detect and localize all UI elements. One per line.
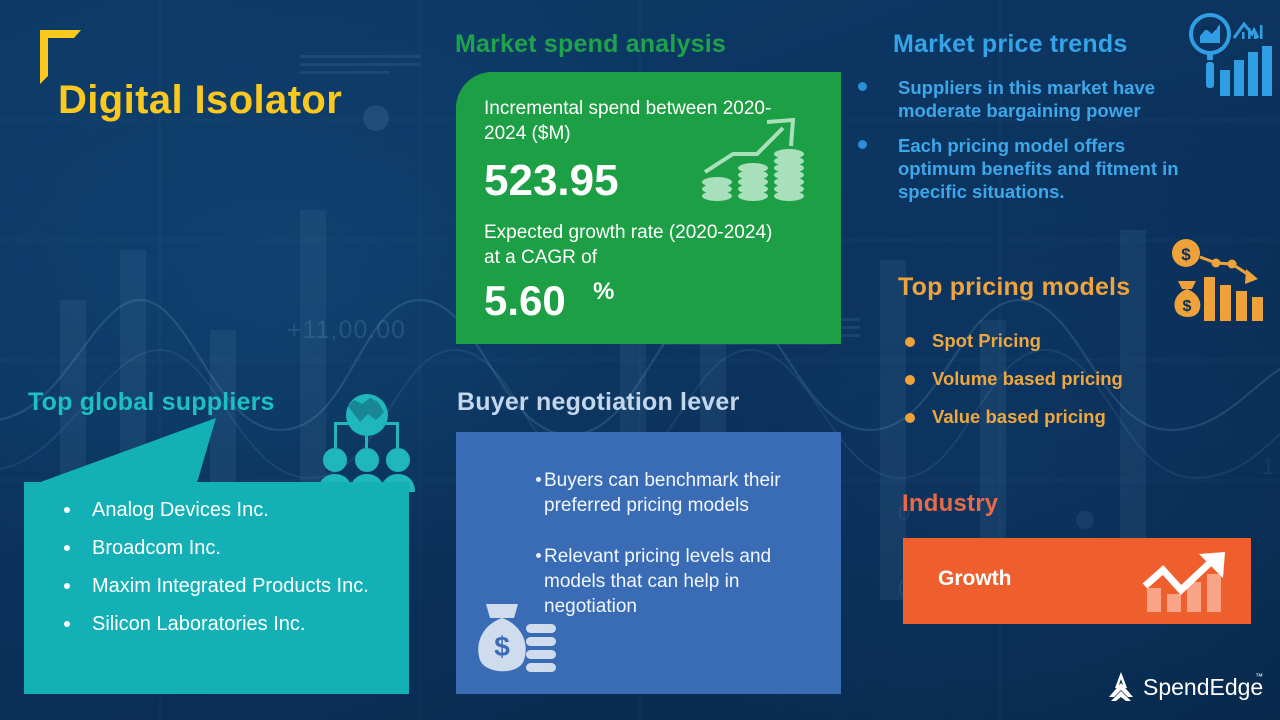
suppliers-list: Analog Devices Inc. Broadcom Inc. Maxim … [42, 498, 402, 650]
svg-text:$: $ [1181, 245, 1191, 264]
negotiation-lever-text: Buyers can benchmark their preferred pri… [544, 470, 781, 516]
market-price-trend-text: Suppliers in this market have moderate b… [898, 77, 1155, 121]
top-global-suppliers-heading: Top global suppliers [28, 388, 275, 417]
supplier-name: Analog Devices Inc. [92, 499, 269, 521]
infographic-slide: 0 0 1 +11,00.00 Digital Isolator Market … [0, 0, 1280, 720]
bullet-dot [64, 545, 70, 551]
svg-text:$: $ [1183, 298, 1192, 315]
status-badge: Growth [938, 567, 1012, 591]
supplier-name: Silicon Laboratories Inc. [92, 613, 305, 635]
page-title-text: Digital Isolator [58, 78, 342, 123]
pricing-model-text: Spot Pricing [932, 330, 1041, 351]
list-item: Maxim Integrated Products Inc. [42, 574, 402, 599]
top-pricing-models-heading: Top pricing models [898, 273, 1130, 302]
list-item: Value based pricing [900, 406, 1230, 428]
supplier-name: Maxim Integrated Products Inc. [92, 575, 369, 597]
list-item: Analog Devices Inc. [42, 498, 402, 523]
background-ticker-text: +11,00.00 [287, 316, 406, 345]
svg-text:$: $ [494, 631, 510, 662]
cagr-value: 5.60 [484, 277, 566, 325]
money-bag-declining-chart-icon: $ $ [1168, 237, 1268, 323]
list-item: Broadcom Inc. [42, 536, 402, 561]
supplier-name: Broadcom Inc. [92, 537, 221, 559]
bullet-dot [64, 621, 70, 627]
list-item: Suppliers in this market have moderate b… [858, 76, 1198, 122]
industry-heading: Industry [902, 490, 998, 518]
list-item: Silicon Laboratories Inc. [42, 612, 402, 637]
cagr-percent-symbol: % [593, 278, 614, 306]
bullet-dot [536, 553, 541, 558]
pricing-model-text: Volume based pricing [932, 368, 1123, 389]
svg-text:1: 1 [1262, 454, 1274, 479]
globe-network-people-icon [318, 392, 416, 492]
incremental-spend-value: 523.95 [484, 156, 619, 206]
buyer-negotiation-lever-card: Buyers can benchmark their preferred pri… [456, 432, 841, 694]
money-bag-coins-icon: $ [468, 594, 560, 680]
market-spend-card: Incremental spend between 2020-2024 ($M)… [456, 72, 841, 344]
list-item: Each pricing model offers optimum benefi… [858, 134, 1198, 203]
bullet-dot [858, 140, 867, 149]
negotiation-lever-text: Relevant pricing levels and models that … [544, 546, 771, 617]
list-item: Buyers can benchmark their preferred pri… [492, 468, 822, 518]
bullet-dot [858, 82, 867, 91]
speech-bubble-tail [24, 418, 244, 488]
bullet-dot [905, 337, 915, 347]
bullet-dot [905, 413, 915, 423]
trademark-symbol: ™ [1255, 672, 1263, 681]
spendedge-chevron-logo-icon [1109, 672, 1133, 701]
list-item: Spot Pricing [900, 330, 1230, 352]
buyer-negotiation-lever-heading: Buyer negotiation lever [457, 388, 739, 417]
bullet-dot [536, 477, 541, 482]
bullet-dot [905, 375, 915, 385]
list-item: Volume based pricing [900, 368, 1230, 390]
top-pricing-models-list: Spot Pricing Volume based pricing Value … [900, 330, 1230, 444]
top-global-suppliers-card: Analog Devices Inc. Broadcom Inc. Maxim … [24, 482, 409, 694]
market-price-trends-heading: Market price trends [893, 30, 1127, 59]
market-spend-heading: Market spend analysis [455, 30, 726, 59]
brand-name: SpendEdge [1143, 674, 1263, 700]
bullet-dot [64, 583, 70, 589]
coin-stacks-growth-icon [701, 112, 811, 212]
pricing-model-text: Value based pricing [932, 406, 1106, 427]
bullet-dot [64, 507, 70, 513]
market-price-trends-list: Suppliers in this market have moderate b… [858, 76, 1198, 215]
market-price-trend-text: Each pricing model offers optimum benefi… [898, 135, 1179, 202]
growth-arrow-chart-icon [1141, 550, 1235, 616]
industry-status-bar: Growth [903, 538, 1251, 624]
cagr-label: Expected growth rate (2020-2024) at a CA… [484, 220, 784, 270]
spendedge-logo: SpendEdge ™ [1105, 666, 1265, 706]
